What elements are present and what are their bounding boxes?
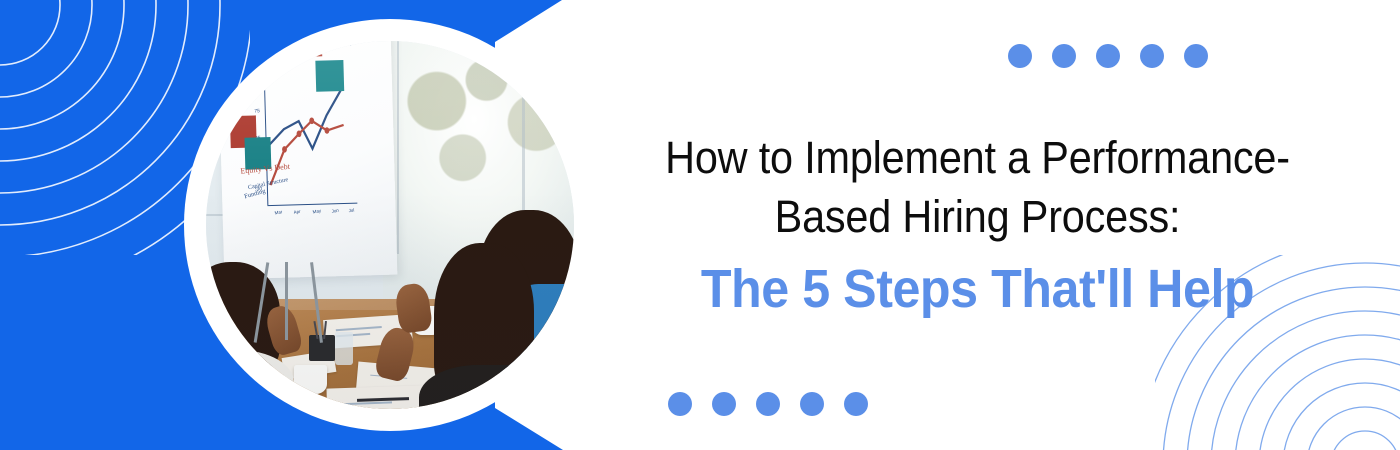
dot	[1096, 44, 1120, 68]
dot	[1140, 44, 1164, 68]
flipchart-leg	[310, 262, 323, 343]
dot	[844, 392, 868, 416]
hero-banner: Revenue vs Expenses 100 75 45 40 30 Mar …	[0, 0, 1400, 450]
hero-photo-content: Revenue vs Expenses 100 75 45 40 30 Mar …	[206, 41, 574, 409]
hero-photo: Revenue vs Expenses 100 75 45 40 30 Mar …	[206, 41, 574, 409]
dot	[1052, 44, 1076, 68]
decorative-dots-top-right	[1008, 44, 1208, 68]
flipchart-leg	[285, 262, 288, 340]
dot	[668, 392, 692, 416]
flipchart-leg	[253, 262, 269, 342]
photo-flipchart-legs	[250, 262, 368, 343]
headline-accent: The 5 Steps That'll Help	[640, 259, 1314, 321]
headline-line-2: Based Hiring Process:	[644, 187, 1311, 246]
dot	[800, 392, 824, 416]
dot	[1184, 44, 1208, 68]
headline-line-1: How to Implement a Performance-	[644, 128, 1311, 187]
dot	[1008, 44, 1032, 68]
dot	[712, 392, 736, 416]
decorative-dots-bottom	[668, 392, 868, 416]
dot	[756, 392, 780, 416]
headline-block: How to Implement a Performance- Based Hi…	[615, 128, 1340, 320]
photo-color-wash	[206, 41, 574, 409]
